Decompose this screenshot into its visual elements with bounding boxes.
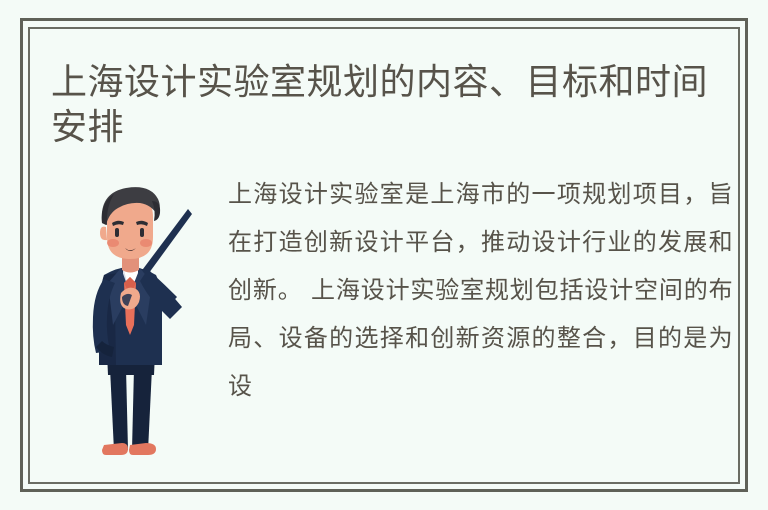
article-body-text: 上海设计实验室是上海市的一项规划项目，旨在打造创新设计平台，推动设计行业的发展和… — [228, 170, 733, 410]
card-content: 上海设计实验室规划的内容、目标和时间安排 — [28, 27, 740, 484]
page-title: 上海设计实验室规划的内容、目标和时间安排 — [51, 60, 719, 150]
businessman-with-pointer-icon — [66, 175, 216, 475]
article-body-row: 上海设计实验室是上海市的一项规划项目，旨在打造创新设计平台，推动设计行业的发展和… — [28, 170, 740, 480]
article-card-page: 上海设计实验室规划的内容、目标和时间安排 — [0, 0, 768, 510]
